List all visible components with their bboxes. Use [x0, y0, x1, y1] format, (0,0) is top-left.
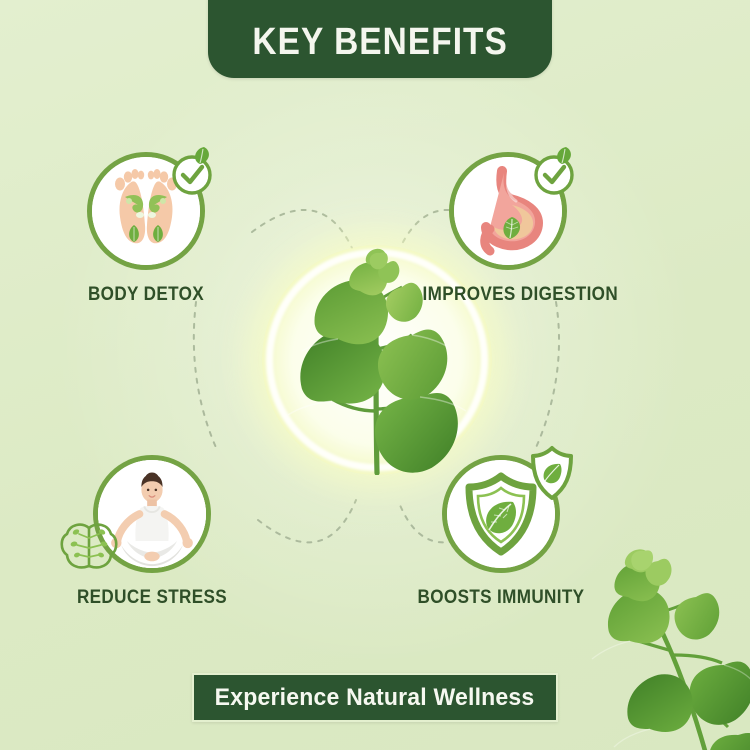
benefit-icon-circle[interactable]	[449, 152, 567, 270]
connector-stress-to-center	[258, 500, 356, 542]
benefit-label: IMPROVES DIGESTION	[423, 284, 594, 306]
connector-left-vertical	[194, 302, 218, 452]
decorative-plant-bottom-right	[588, 539, 750, 750]
connector-detox-to-center	[252, 210, 352, 248]
small-shield-leaf-badge-icon	[527, 444, 577, 502]
benefit-reduce-stress[interactable]: REDUCE STRESS	[57, 455, 247, 609]
benefit-icon-circle[interactable]	[93, 455, 211, 573]
footer-banner: Experience Natural Wellness	[192, 673, 558, 722]
key-benefits-poster: KEY BENEFITS	[0, 0, 750, 750]
check-leaf-badge-icon	[166, 143, 222, 199]
connector-right-vertical	[534, 302, 559, 452]
benefit-body-detox[interactable]: BODY DETOX	[51, 152, 241, 306]
benefit-icon-circle[interactable]	[87, 152, 205, 270]
brain-leaf-badge-icon	[58, 518, 120, 576]
benefit-icon-circle[interactable]	[442, 455, 560, 573]
footer-tagline: Experience Natural Wellness	[215, 684, 535, 712]
benefit-label: BODY DETOX	[61, 284, 232, 306]
check-leaf-badge-icon	[528, 143, 584, 199]
benefit-boosts-immunity[interactable]: BOOSTS IMMUNITY	[406, 455, 596, 609]
benefit-label: BOOSTS IMMUNITY	[416, 587, 587, 609]
benefit-label: REDUCE STRESS	[67, 587, 238, 609]
benefit-improves-digestion[interactable]: IMPROVES DIGESTION	[413, 152, 603, 306]
page-title: KEY BENEFITS	[252, 21, 507, 64]
header-banner: KEY BENEFITS	[208, 0, 552, 78]
